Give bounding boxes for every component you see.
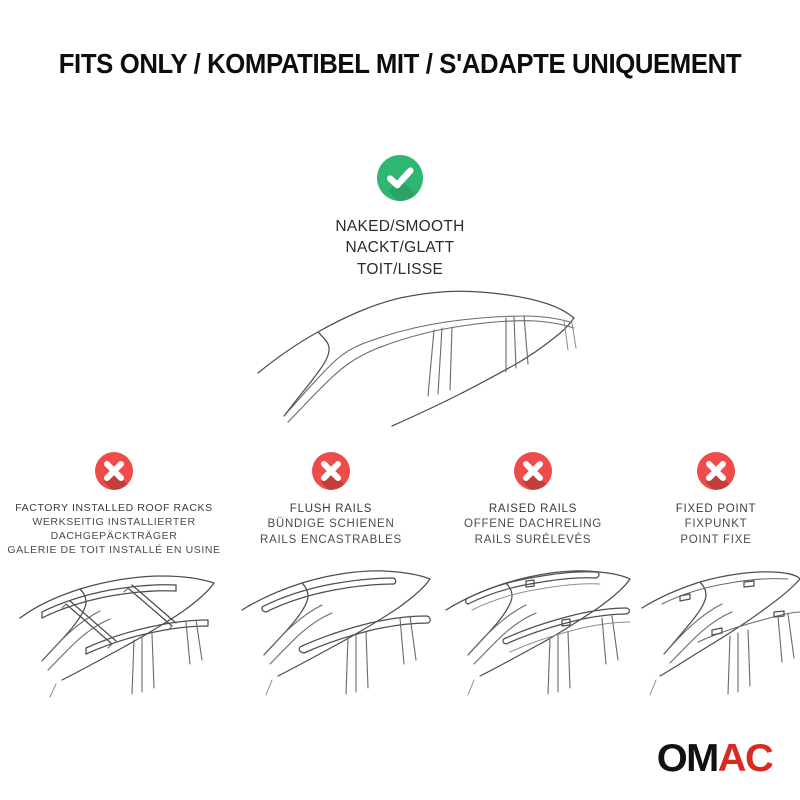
title-bar: FITS ONLY / KOMPATIBEL MIT / S'ADAPTE UN… (0, 48, 800, 80)
approved-roof-type-block: NAKED/SMOOTH NACKT/GLATT TOIT/LISSE (0, 155, 800, 280)
check-circle-icon (377, 155, 423, 201)
rejected-labels: FIXED POINT FIXPUNKT POINT FIXE (632, 502, 800, 548)
logo-text-red: AC (718, 737, 772, 780)
x-circle-icon (95, 452, 133, 490)
rejected-item-raised-rails: RAISED RAILS OFFENE DACHRELING RAILS SUR… (434, 452, 632, 548)
rejected-label-line-3: RAILS ENCASTRABLES (228, 533, 434, 548)
rejected-label-line-2: BÜNDIGE SCHIENEN (228, 517, 434, 532)
page-title: FITS ONLY / KOMPATIBEL MIT / S'ADAPTE UN… (59, 48, 741, 80)
approved-label-line-2: NACKT/GLATT (0, 237, 800, 258)
rejected-label-line-1: FIXED POINT (632, 502, 800, 517)
rejected-label-line-2: WERKSEITIG INSTALLIERTER (0, 516, 228, 530)
x-circle-icon (312, 452, 350, 490)
rejected-label-line-1: FLUSH RAILS (228, 502, 434, 517)
rejected-label-line-3: RAILS SURÉLEVÉS (434, 533, 632, 548)
rejected-item-fixed-point: FIXED POINT FIXPUNKT POINT FIXE (632, 452, 800, 548)
flush-rails-roof-illustration (228, 552, 434, 702)
logo-text-dark: OM (657, 737, 718, 780)
approved-label-line-1: NAKED/SMOOTH (0, 216, 800, 237)
rejected-labels: RAISED RAILS OFFENE DACHRELING RAILS SUR… (434, 502, 632, 548)
smooth-roof-illustration (248, 268, 588, 433)
rejected-label-line-1: RAISED RAILS (434, 502, 632, 517)
roof-with-crossbars-illustration (0, 552, 228, 702)
rejected-label-line-2: OFFENE DACHRELING (434, 517, 632, 532)
x-circle-icon (697, 452, 735, 490)
rejected-labels: FACTORY INSTALLED ROOF RACKS WERKSEITIG … (0, 502, 228, 558)
rejected-item-flush-rails: FLUSH RAILS BÜNDIGE SCHIENEN RAILS ENCAS… (228, 452, 434, 548)
rejected-labels: FLUSH RAILS BÜNDIGE SCHIENEN RAILS ENCAS… (228, 502, 434, 548)
rejected-label-line-3: POINT FIXE (632, 533, 800, 548)
rejected-label-line-2: FIXPUNKT (632, 517, 800, 532)
fixed-point-roof-illustration (632, 552, 800, 702)
omac-logo: OMAC (657, 739, 772, 778)
rejected-item-factory-installed-roof-racks: FACTORY INSTALLED ROOF RACKS WERKSEITIG … (0, 452, 228, 558)
x-circle-icon (514, 452, 552, 490)
rejected-label-line-3: DACHGEPÄCKTRÄGER (0, 530, 228, 544)
rejected-label-line-1: FACTORY INSTALLED ROOF RACKS (0, 502, 228, 516)
raised-rails-roof-illustration (434, 552, 632, 702)
